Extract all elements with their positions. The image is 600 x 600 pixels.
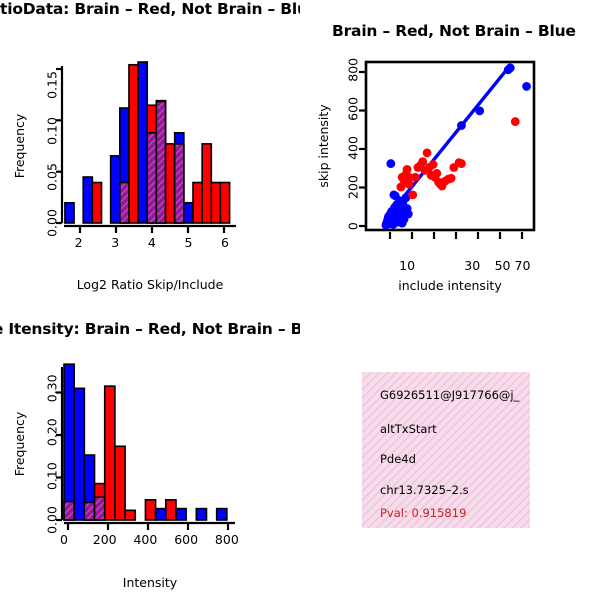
hist-intensity-ylabel: Frequency xyxy=(12,411,27,476)
hist-intensity-x-axis xyxy=(64,523,235,530)
hist-bar xyxy=(83,177,92,223)
scatter-point xyxy=(506,63,515,72)
scatter-x-tick-labels: 10305070 xyxy=(399,258,530,273)
scatter-xlabel: include intensity xyxy=(398,278,502,293)
regression-line xyxy=(397,64,511,205)
x-tick-label: 5 xyxy=(184,235,192,250)
gene-info-lines: G6926511@J917766@j_altTxStartPde4dchr13.… xyxy=(362,372,530,528)
x-tick-label: 50 xyxy=(495,258,511,273)
hist-intensity-x-tick-labels: 0200400600800 xyxy=(60,532,239,547)
gene-info-lines-clip: G6926511@J917766@j_altTxStartPde4dchr13.… xyxy=(362,372,530,528)
hist-intensity-y-tick-labels: 0.000.100.200.30 xyxy=(45,374,60,534)
scatter-point xyxy=(432,169,441,178)
scatter-point xyxy=(522,82,531,91)
hist-bar xyxy=(111,156,120,223)
y-tick-label: 0.05 xyxy=(45,163,60,191)
hist-ratio-x-tick-labels: 23456 xyxy=(75,235,229,250)
scatter-point xyxy=(404,210,413,219)
y-tick-label: 200 xyxy=(346,175,361,199)
hist-bar xyxy=(184,203,193,223)
y-tick-label: 0.00 xyxy=(45,209,60,237)
scatter-x-axis xyxy=(390,232,522,239)
hist-bar-overlap xyxy=(95,497,105,520)
hist-ratio-plot: 0.000.050.100.15 23456 Frequency Log2 Ra… xyxy=(0,46,300,306)
scatter-point xyxy=(447,174,456,183)
y-tick-label: 0.10 xyxy=(45,462,60,490)
scatter-point xyxy=(457,159,466,168)
x-tick-label: 10 xyxy=(399,258,415,273)
gene-info-line-3: Pde4d xyxy=(380,452,416,466)
scatter-point xyxy=(403,165,412,174)
x-tick-label: 400 xyxy=(133,532,157,547)
scatter-y-tick-labels: 0200400600800 xyxy=(346,58,361,230)
scatter-point xyxy=(429,160,438,169)
hist-bar xyxy=(156,509,166,520)
hist-ratio-title-clip: RatioData: Brain – Red, Not Brain – Blu xyxy=(0,0,300,24)
y-tick-label: 0.15 xyxy=(45,71,60,99)
hist-ratio-xlabel: Log2 Ratio Skip/Include xyxy=(77,277,224,292)
scatter-point xyxy=(386,159,395,168)
x-tick-label: 0 xyxy=(60,532,68,547)
x-tick-label: 200 xyxy=(93,532,117,547)
hist-bar xyxy=(115,446,125,520)
y-tick-label: 0.30 xyxy=(45,374,60,402)
y-tick-label: 0.10 xyxy=(45,117,60,145)
hist-bar xyxy=(125,510,135,520)
hist-bar xyxy=(64,364,74,520)
hist-ratio-bars xyxy=(65,62,230,223)
y-tick-label: 0.00 xyxy=(45,506,60,534)
hist-bar xyxy=(202,144,211,223)
x-tick-label: 70 xyxy=(515,258,531,273)
scatter-point xyxy=(423,148,432,157)
gene-info-line-4: chr13.7325–2.s xyxy=(380,483,469,497)
hist-bar xyxy=(220,183,229,223)
hist-bar xyxy=(211,183,220,223)
hist-bar xyxy=(166,500,176,520)
hist-intensity-plot: 0.000.100.200.30 0200400600800 Frequency… xyxy=(0,344,300,600)
hist-bar-overlap xyxy=(64,502,74,520)
scatter-panel: 0200400600800 10305070 skip intensity in… xyxy=(300,46,600,306)
hist-intensity-title: ne Itensity: Brain – Red, Not Brain – B xyxy=(0,320,300,338)
hist-ratio-title: RatioData: Brain – Red, Not Brain – Blu xyxy=(0,0,300,18)
hist-bar xyxy=(65,203,74,223)
scatter-point xyxy=(475,106,484,115)
y-tick-label: 0.20 xyxy=(45,418,60,446)
hist-bar-overlap xyxy=(84,502,94,520)
hist-intensity-title-clip: ne Itensity: Brain – Red, Not Brain – B xyxy=(0,320,300,344)
hist-bar xyxy=(105,386,115,520)
x-tick-label: 800 xyxy=(215,532,239,547)
hist-bar xyxy=(145,500,155,520)
scatter-point xyxy=(411,173,420,182)
scatter-ylabel: skip intensity xyxy=(316,104,331,188)
x-tick-label: 3 xyxy=(111,235,119,250)
y-tick-label: 400 xyxy=(346,136,361,160)
hist-intensity-bars xyxy=(64,364,227,520)
hist-bar xyxy=(166,144,175,223)
scatter-point xyxy=(408,190,417,199)
hist-bar-overlap xyxy=(156,102,165,223)
scatter-point xyxy=(391,191,400,200)
gene-info-line-1: G6926511@J917766@j_ xyxy=(380,388,519,402)
hist-bar xyxy=(217,509,227,520)
gene-info-pval: Pval: 0.915819 xyxy=(380,506,466,520)
scatter-plot: 0200400600800 10305070 skip intensity in… xyxy=(300,46,600,306)
x-tick-label: 2 xyxy=(75,235,83,250)
hist-ratio-panel: 0.000.050.100.15 23456 Frequency Log2 Ra… xyxy=(0,46,300,306)
hist-bar xyxy=(196,509,206,520)
hist-bar xyxy=(138,62,147,223)
hist-bar xyxy=(129,65,138,223)
hist-bar xyxy=(176,509,186,520)
scatter-title: Brain – Red, Not Brain – Blue xyxy=(332,22,576,40)
x-tick-label: 600 xyxy=(174,532,198,547)
scatter-point xyxy=(457,121,466,130)
gene-info-line-2: altTxStart xyxy=(380,422,437,436)
scatter-points xyxy=(382,63,531,229)
hist-ratio-ylabel: Frequency xyxy=(12,113,27,178)
y-tick-label: 800 xyxy=(346,58,361,82)
gene-info-box: G6926511@J917766@j_altTxStartPde4dchr13.… xyxy=(362,372,530,528)
hist-bar-overlap xyxy=(147,133,156,223)
y-tick-label: 0 xyxy=(346,222,361,230)
hist-intensity-panel: 0.000.100.200.30 0200400600800 Frequency… xyxy=(0,344,300,600)
hist-bar xyxy=(74,388,84,520)
hist-ratio-y-tick-labels: 0.000.050.100.15 xyxy=(45,71,60,237)
scatter-regression-line xyxy=(397,64,511,205)
hist-bar xyxy=(193,183,202,223)
x-tick-label: 30 xyxy=(464,258,480,273)
hist-bar xyxy=(92,183,101,223)
scatter-point xyxy=(511,117,520,126)
hist-bar-overlap xyxy=(175,144,184,223)
x-tick-label: 6 xyxy=(221,235,229,250)
y-tick-label: 600 xyxy=(346,97,361,121)
hist-bar-overlap xyxy=(120,183,129,223)
x-tick-label: 4 xyxy=(148,235,156,250)
hist-ratio-x-axis xyxy=(64,226,236,233)
hist-intensity-xlabel: Intensity xyxy=(123,575,178,590)
